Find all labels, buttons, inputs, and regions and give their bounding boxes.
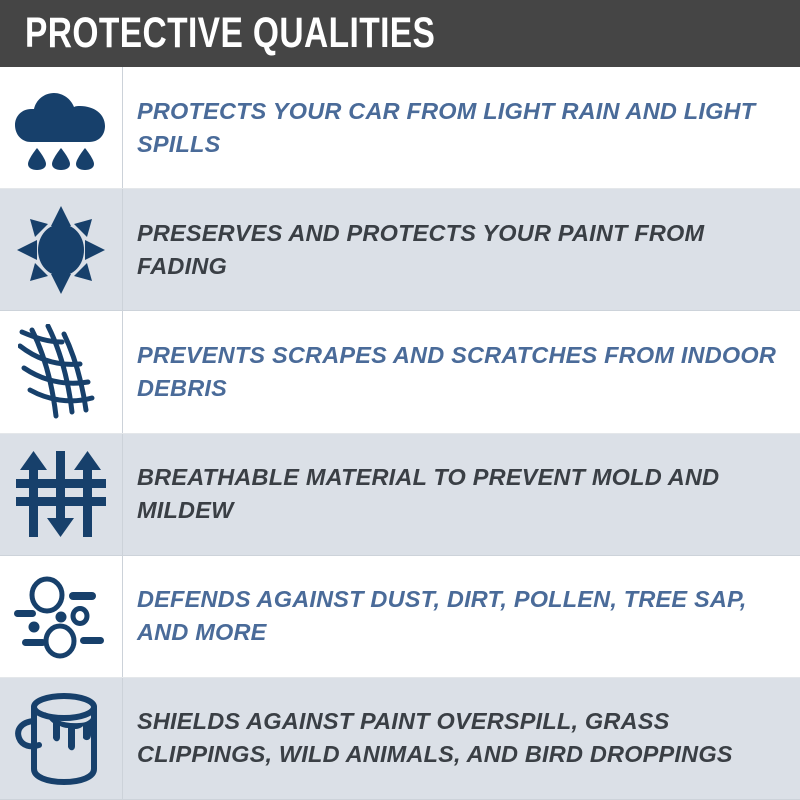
icon-cell <box>0 556 122 677</box>
text-cell: DEFENDS AGAINST DUST, DIRT, POLLEN, TREE… <box>123 556 800 677</box>
text-cell: PROTECTS YOUR CAR FROM LIGHT RAIN AND LI… <box>123 67 800 188</box>
list-item-label: PREVENTS SCRAPES AND SCRATCHES FROM INDO… <box>137 339 778 405</box>
list-item: SHIELDS AGAINST PAINT OVERSPILL, GRASS C… <box>0 678 800 800</box>
qualities-list: PROTECTS YOUR CAR FROM LIGHT RAIN AND LI… <box>0 67 800 800</box>
list-item-label: BREATHABLE MATERIAL TO PREVENT MOLD AND … <box>137 461 778 527</box>
list-item: BREATHABLE MATERIAL TO PREVENT MOLD AND … <box>0 434 800 556</box>
protective-qualities-infographic: PROTECTIVE QUALITIES <box>0 0 800 800</box>
sun-icon <box>17 206 105 294</box>
list-item-label: SHIELDS AGAINST PAINT OVERSPILL, GRASS C… <box>137 705 778 771</box>
list-item-label: PROTECTS YOUR CAR FROM LIGHT RAIN AND LI… <box>137 95 778 161</box>
list-item-label: PRESERVES AND PROTECTS YOUR PAINT FROM F… <box>137 217 778 283</box>
text-cell: SHIELDS AGAINST PAINT OVERSPILL, GRASS C… <box>123 678 800 799</box>
text-cell: PRESERVES AND PROTECTS YOUR PAINT FROM F… <box>123 189 800 310</box>
scratches-icon <box>18 324 104 420</box>
dust-particles-icon <box>14 573 108 659</box>
header-bar: PROTECTIVE QUALITIES <box>0 0 800 67</box>
text-cell: PREVENTS SCRAPES AND SCRATCHES FROM INDO… <box>123 311 800 432</box>
list-item: PRESERVES AND PROTECTS YOUR PAINT FROM F… <box>0 189 800 311</box>
rain-cloud-icon <box>15 86 107 170</box>
text-cell: BREATHABLE MATERIAL TO PREVENT MOLD AND … <box>123 434 800 555</box>
icon-cell <box>0 311 122 432</box>
breathable-arrows-icon <box>16 451 106 537</box>
icon-cell <box>0 678 122 799</box>
icon-cell <box>0 67 122 188</box>
list-item: PROTECTS YOUR CAR FROM LIGHT RAIN AND LI… <box>0 67 800 189</box>
page-title: PROTECTIVE QUALITIES <box>25 12 435 55</box>
icon-cell <box>0 434 122 555</box>
list-item: DEFENDS AGAINST DUST, DIRT, POLLEN, TREE… <box>0 556 800 678</box>
list-item: PREVENTS SCRAPES AND SCRATCHES FROM INDO… <box>0 311 800 433</box>
list-item-label: DEFENDS AGAINST DUST, DIRT, POLLEN, TREE… <box>137 583 778 649</box>
icon-cell <box>0 189 122 310</box>
paint-can-icon <box>15 690 107 786</box>
